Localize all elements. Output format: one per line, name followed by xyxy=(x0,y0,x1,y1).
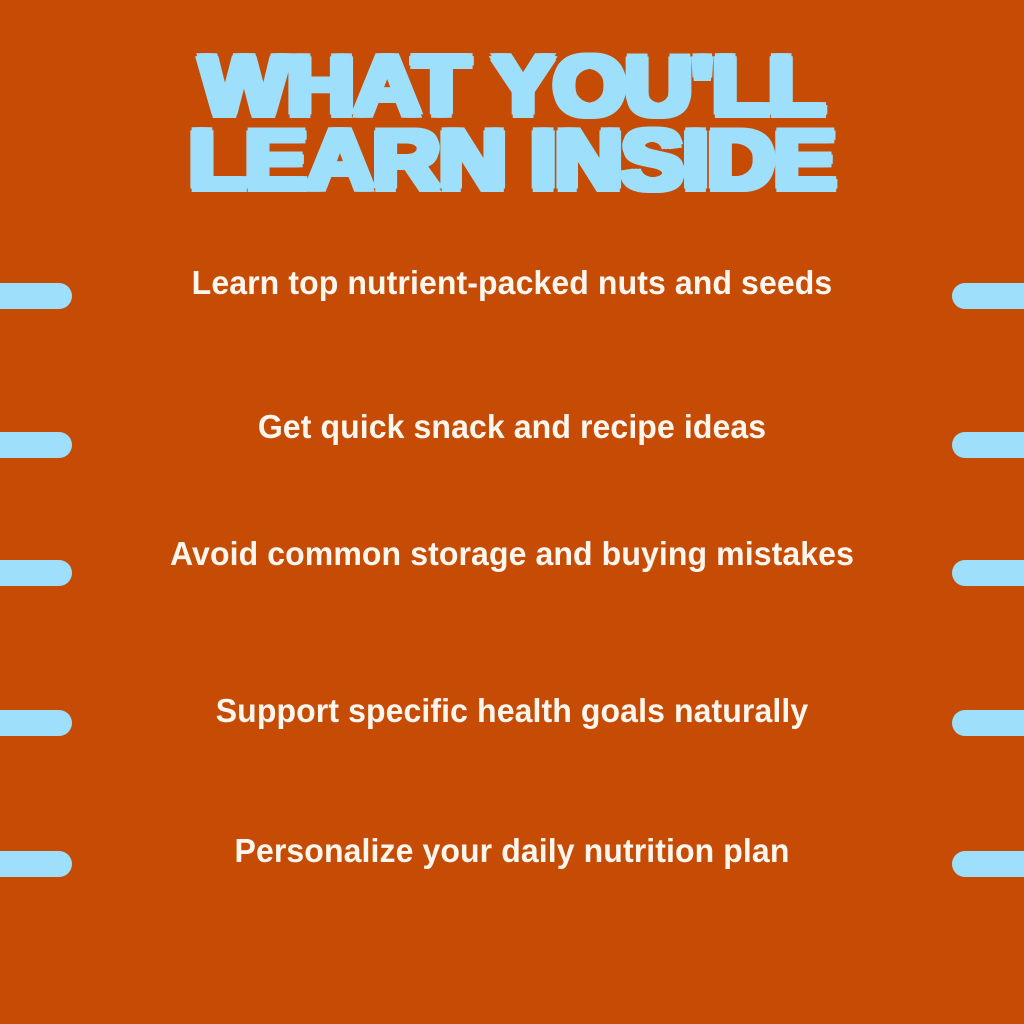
list-item-label: Personalize your daily nutrition plan xyxy=(122,834,902,867)
list-item: Learn top nutrient-packed nuts and seeds xyxy=(0,240,1024,384)
list-item-label: Get quick snack and recipe ideas xyxy=(122,410,902,443)
list-item-label: Avoid common storage and buying mistakes xyxy=(122,537,902,571)
bullet-pill-right-icon xyxy=(952,560,1024,586)
page-title: WHAT YOU'LL LEARN INSIDE xyxy=(0,52,1024,189)
list-item: Support specific health goals naturally xyxy=(0,668,1024,808)
benefit-list: Learn top nutrient-packed nuts and seeds… xyxy=(0,240,1024,948)
bullet-pill-right-icon xyxy=(952,432,1024,458)
bullet-pill-left-icon xyxy=(0,560,72,586)
list-item: Avoid common storage and buying mistakes xyxy=(0,512,1024,668)
title-line-1: WHAT YOU'LL xyxy=(0,52,1024,119)
list-item-label: Learn top nutrient-packed nuts and seeds xyxy=(122,266,902,299)
bullet-pill-left-icon xyxy=(0,283,72,309)
poster-canvas: WHAT YOU'LL LEARN INSIDE Learn top nutri… xyxy=(0,0,1024,1024)
bullet-pill-right-icon xyxy=(952,851,1024,877)
bullet-pill-left-icon xyxy=(0,710,72,736)
list-item: Get quick snack and recipe ideas xyxy=(0,384,1024,512)
bullet-pill-right-icon xyxy=(952,710,1024,736)
bullet-pill-left-icon xyxy=(0,851,72,877)
title-line-2: LEARN INSIDE xyxy=(0,126,1024,193)
bullet-pill-right-icon xyxy=(952,283,1024,309)
list-item: Personalize your daily nutrition plan xyxy=(0,808,1024,948)
bullet-pill-left-icon xyxy=(0,432,72,458)
list-item-label: Support specific health goals naturally xyxy=(122,694,902,727)
